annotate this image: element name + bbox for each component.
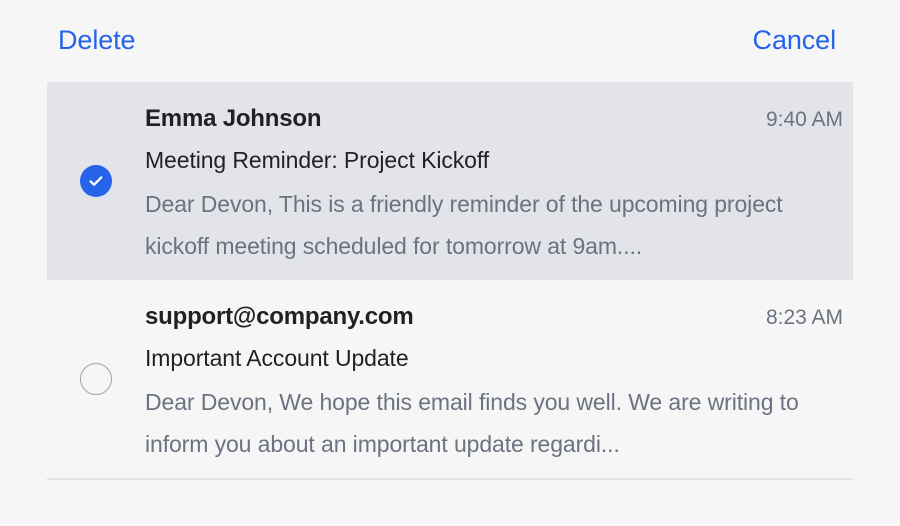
- email-list-item[interactable]: support@company.com 8:23 AM Important Ac…: [47, 280, 853, 478]
- selection-toolbar: Delete Cancel: [0, 0, 900, 82]
- email-subject: Important Account Update: [145, 343, 843, 373]
- selection-control[interactable]: [47, 82, 145, 280]
- email-list-item[interactable]: Emma Johnson 9:40 AM Meeting Reminder: P…: [47, 82, 853, 280]
- delete-button[interactable]: Delete: [58, 22, 135, 58]
- email-subject: Meeting Reminder: Project Kickoff: [145, 145, 843, 175]
- email-header-line: support@company.com 8:23 AM: [145, 301, 843, 333]
- email-selection-screen: Delete Cancel Emma Johnson 9:40 AM Meeti…: [0, 0, 900, 526]
- email-preview: Dear Devon, We hope this email finds you…: [145, 381, 843, 465]
- email-timestamp: 9:40 AM: [766, 105, 843, 135]
- email-sender: Emma Johnson: [145, 103, 321, 135]
- circle-outline-icon[interactable]: [80, 363, 112, 395]
- selection-control[interactable]: [47, 280, 145, 478]
- email-content: Emma Johnson 9:40 AM Meeting Reminder: P…: [145, 82, 853, 267]
- email-list: Emma Johnson 9:40 AM Meeting Reminder: P…: [0, 82, 900, 480]
- list-divider: [47, 478, 853, 480]
- email-sender: support@company.com: [145, 301, 414, 333]
- email-content: support@company.com 8:23 AM Important Ac…: [145, 280, 853, 465]
- check-circle-filled-icon[interactable]: [80, 165, 112, 197]
- email-header-line: Emma Johnson 9:40 AM: [145, 103, 843, 135]
- cancel-button[interactable]: Cancel: [753, 22, 836, 58]
- email-preview: Dear Devon, This is a friendly reminder …: [145, 183, 843, 267]
- email-timestamp: 8:23 AM: [766, 303, 843, 333]
